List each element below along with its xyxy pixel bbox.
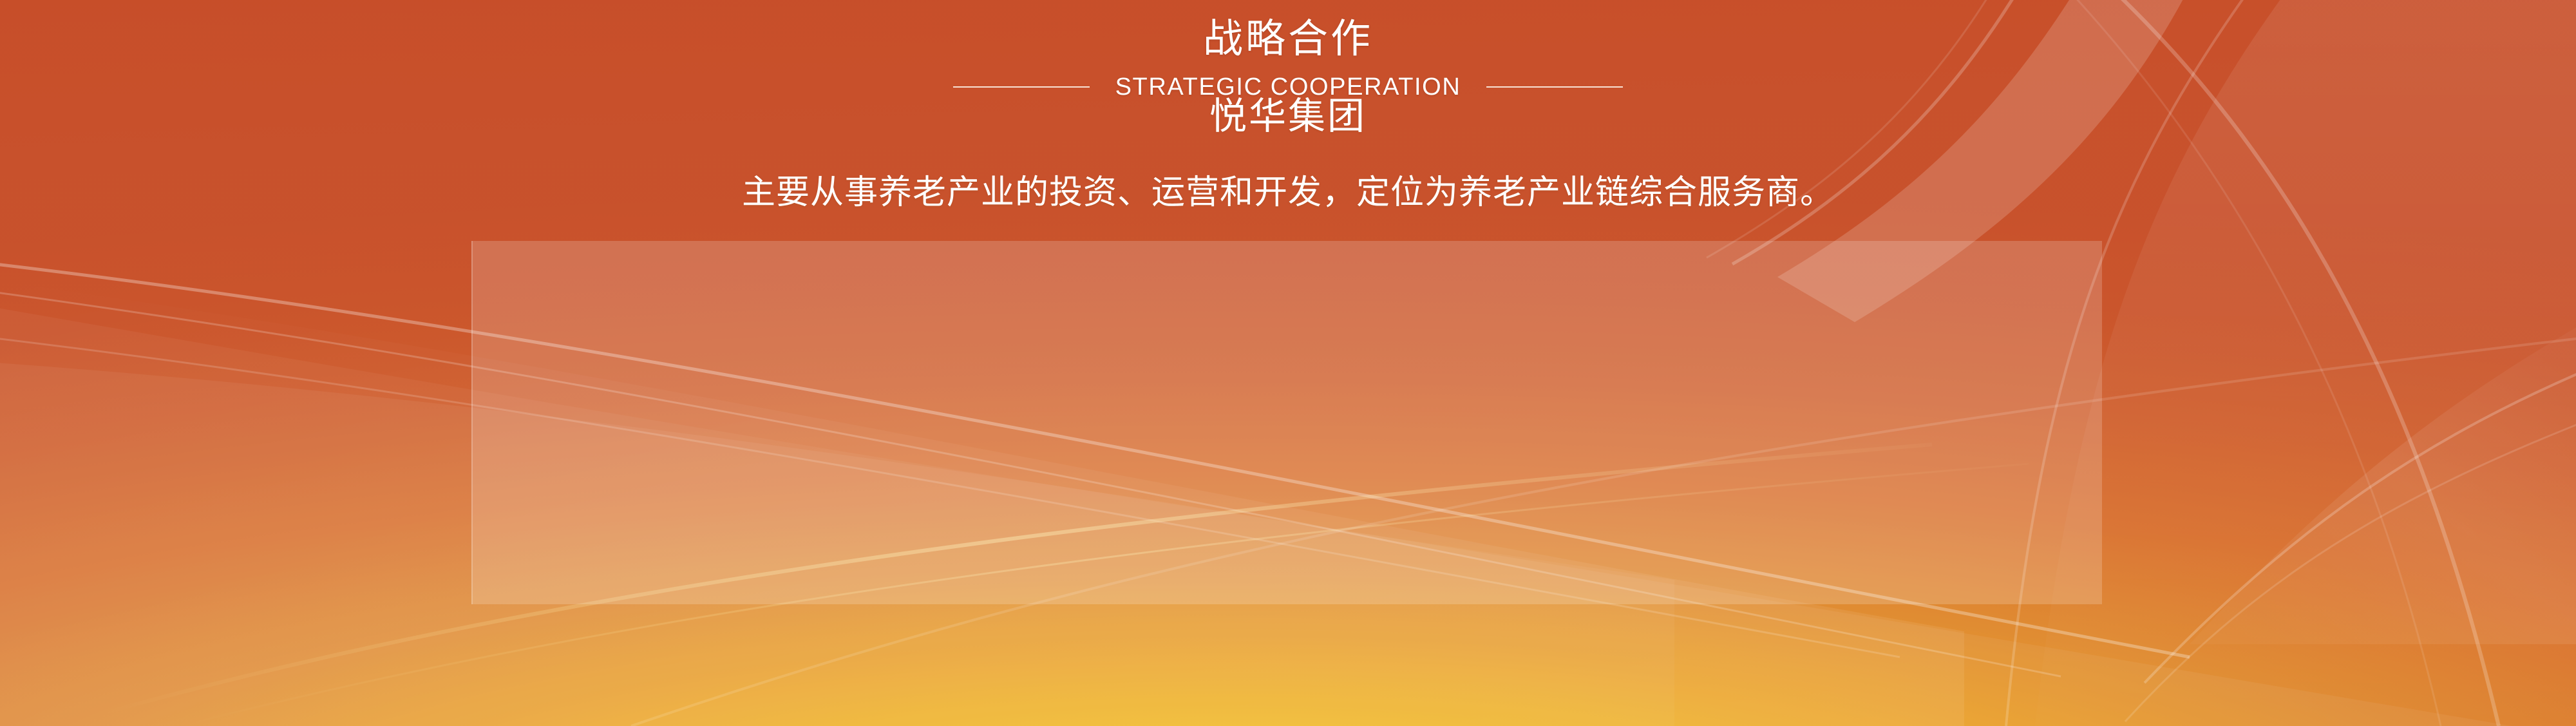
organization-name: 悦华集团 — [1209, 94, 1367, 139]
strategic-cooperation-banner: 战略合作 STRATEGIC COOPERATION 悦华集团 主要从事养老产业… — [0, 0, 2576, 726]
organization-description: 主要从事养老产业的投资、运营和开发，定位为养老产业链综合服务商。 — [742, 170, 1834, 215]
content-panel-body: 悦华集团 主要从事养老产业的投资、运营和开发，定位为养老产业链综合服务商。 — [0, 0, 2576, 726]
